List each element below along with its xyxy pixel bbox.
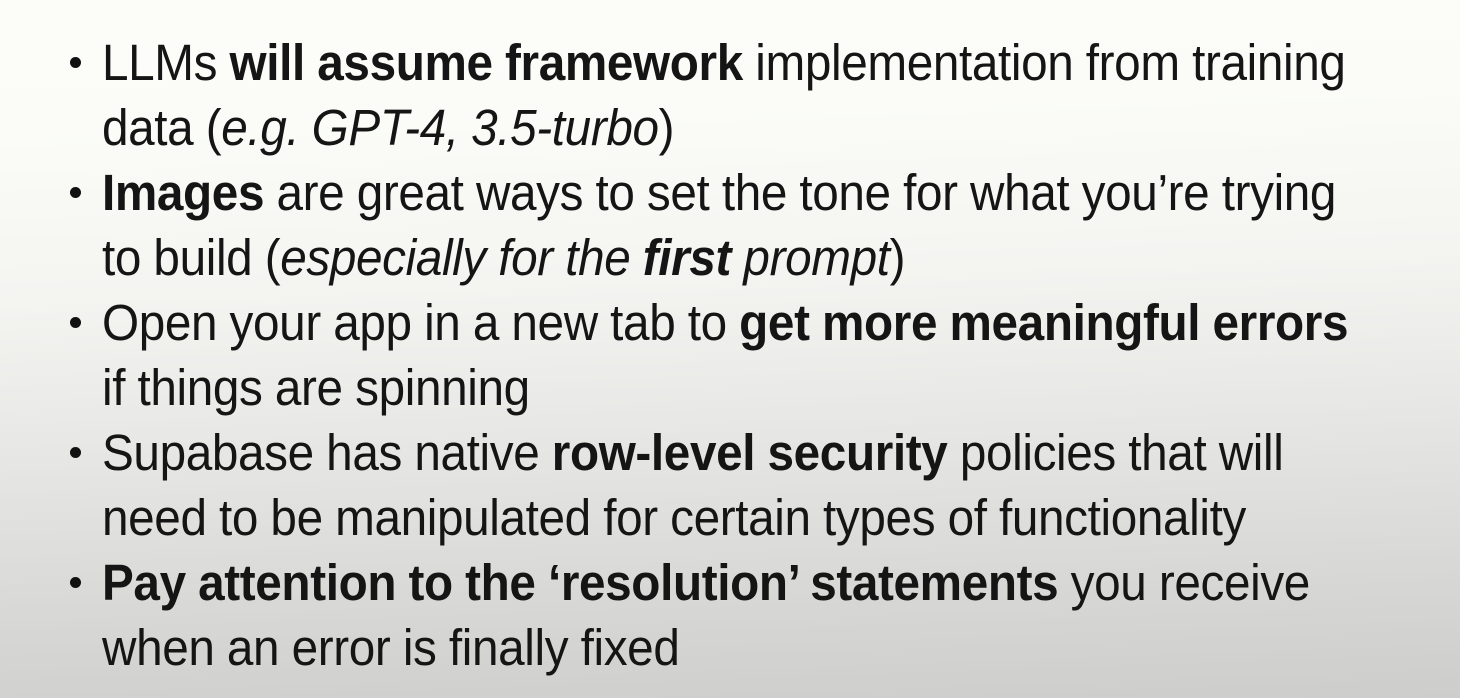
bullet-text: Open your app in a new tab to get more m… (102, 290, 1361, 420)
bullet-point-icon (70, 317, 81, 328)
presentation-slide: LLMs will assume framework implementatio… (0, 0, 1460, 698)
bullet-point-icon (70, 57, 81, 68)
bullet-supabase-row-level-security: Supabase has native row-level security p… (58, 420, 1448, 550)
bullet-point-icon (70, 447, 81, 458)
bullet-point-icon (70, 577, 81, 588)
bullet-images-set-tone: Images are great ways to set the tone fo… (58, 160, 1448, 290)
bullet-text: Pay attention to the ‘resolution’ statem… (102, 550, 1361, 680)
bullet-text: Supabase has native row-level security p… (102, 420, 1361, 550)
bullet-open-app-new-tab: Open your app in a new tab to get more m… (58, 290, 1448, 420)
bullet-llms-assume-framework: LLMs will assume framework implementatio… (58, 30, 1448, 160)
bullet-text: LLMs will assume framework implementatio… (102, 30, 1361, 160)
bullet-point-icon (70, 187, 81, 198)
bullet-list: LLMs will assume framework implementatio… (58, 30, 1448, 680)
bullet-text: Images are great ways to set the tone fo… (102, 160, 1361, 290)
bullet-pay-attention-resolution: Pay attention to the ‘resolution’ statem… (58, 550, 1448, 680)
